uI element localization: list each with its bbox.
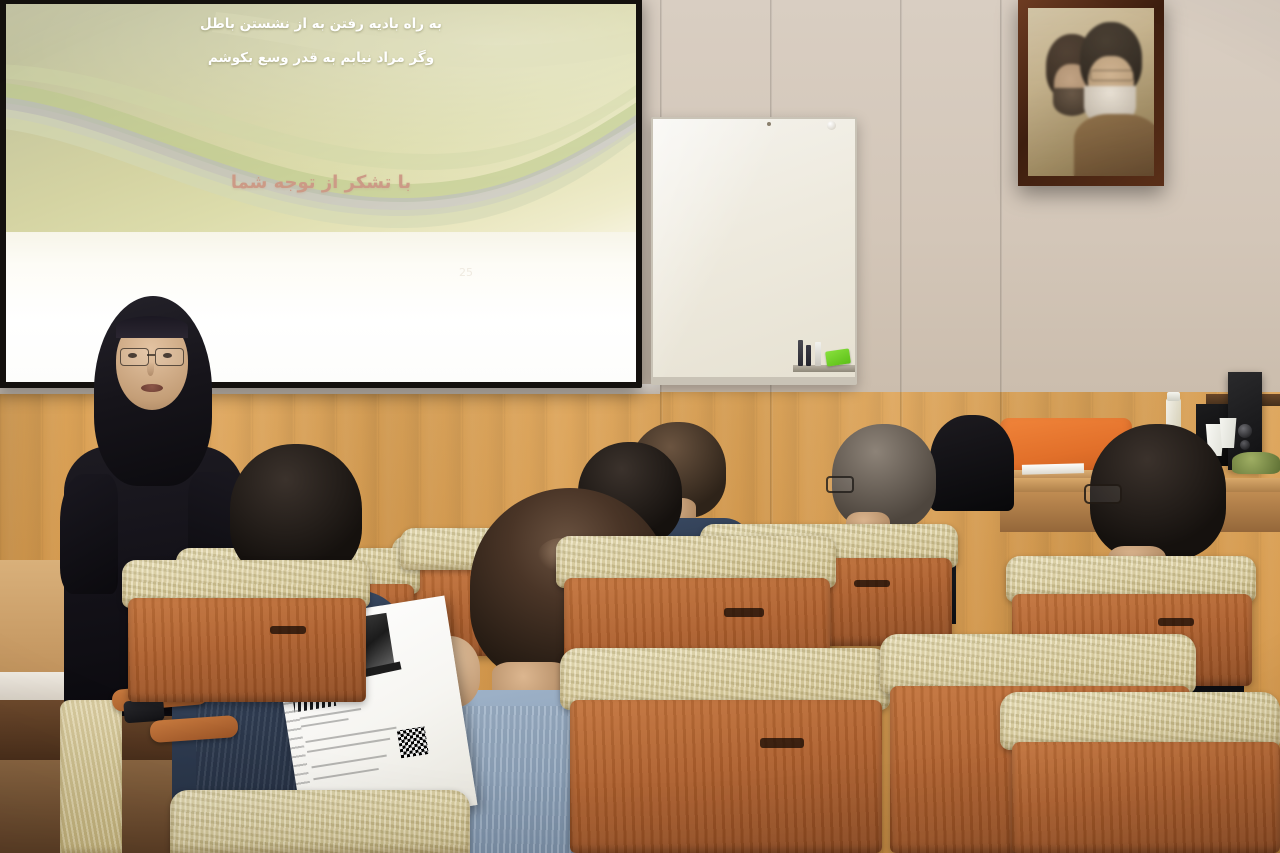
- seat-handle-slot: [724, 608, 764, 617]
- conference-hall-photo: به راه بادیه رفتن به از نشستن باطل وگر م…: [0, 0, 1280, 853]
- presenter-shoulder-left: [60, 474, 118, 594]
- whiteboard-glare: [653, 119, 855, 377]
- attendee-right-glasses-icon: [1084, 484, 1122, 504]
- slide-thanks-text: با تشکر از توجه شما: [6, 172, 636, 193]
- seat-cushion[interactable]: [170, 790, 470, 853]
- presenter-glasses-icon: [155, 348, 184, 366]
- whiteboard-marker-tray: [793, 365, 855, 372]
- attendee-mid-right-glasses-icon: [826, 476, 854, 493]
- seat-back[interactable]: [570, 700, 882, 853]
- slide-poem-line-2: وگر مراد نیابم به قدر وسع بکوشم: [6, 50, 636, 66]
- seat-handle-slot: [760, 738, 804, 748]
- slide-page-number: 25: [436, 266, 496, 279]
- slide-poem-line-1: به راه بادیه رفتن به از نشستن باطل: [6, 16, 636, 32]
- seat-handle-slot: [270, 626, 306, 634]
- seat-handle-slot: [854, 580, 890, 587]
- papers-on-table: [1022, 463, 1084, 475]
- presenter-mouth: [141, 384, 163, 392]
- attendee-chador: [930, 415, 1014, 511]
- water-bottle-cap: [1167, 392, 1180, 401]
- speaker-driver-icon: [1240, 440, 1250, 450]
- blue-marker-icon: [806, 345, 811, 366]
- portrait-softening-overlay: [1028, 8, 1154, 176]
- presenter-glasses-bridge: [147, 354, 155, 356]
- seat-back[interactable]: [128, 598, 366, 702]
- wall-seam: [900, 0, 903, 470]
- presenter-glasses-icon: [120, 348, 149, 366]
- seat-back[interactable]: [1012, 742, 1280, 853]
- wall-seam: [1000, 0, 1003, 430]
- presenter-nose: [147, 362, 154, 376]
- whiteboard-mount-knob: [827, 121, 836, 130]
- seat-cushion[interactable]: [880, 634, 1196, 694]
- presenter-hairline: [116, 316, 188, 338]
- black-marker-icon: [798, 340, 803, 366]
- speaker-driver-icon: [1238, 424, 1252, 438]
- seat-handle-slot: [1158, 618, 1194, 626]
- white-marker-icon: [815, 342, 821, 366]
- table-plant: [1232, 452, 1280, 474]
- whiteboard-mount-hole: [767, 122, 771, 126]
- brochure-qr-code[interactable]: [397, 726, 429, 758]
- seat-side-panel: [60, 700, 122, 853]
- slide-ribbon-graphic: [6, 4, 636, 274]
